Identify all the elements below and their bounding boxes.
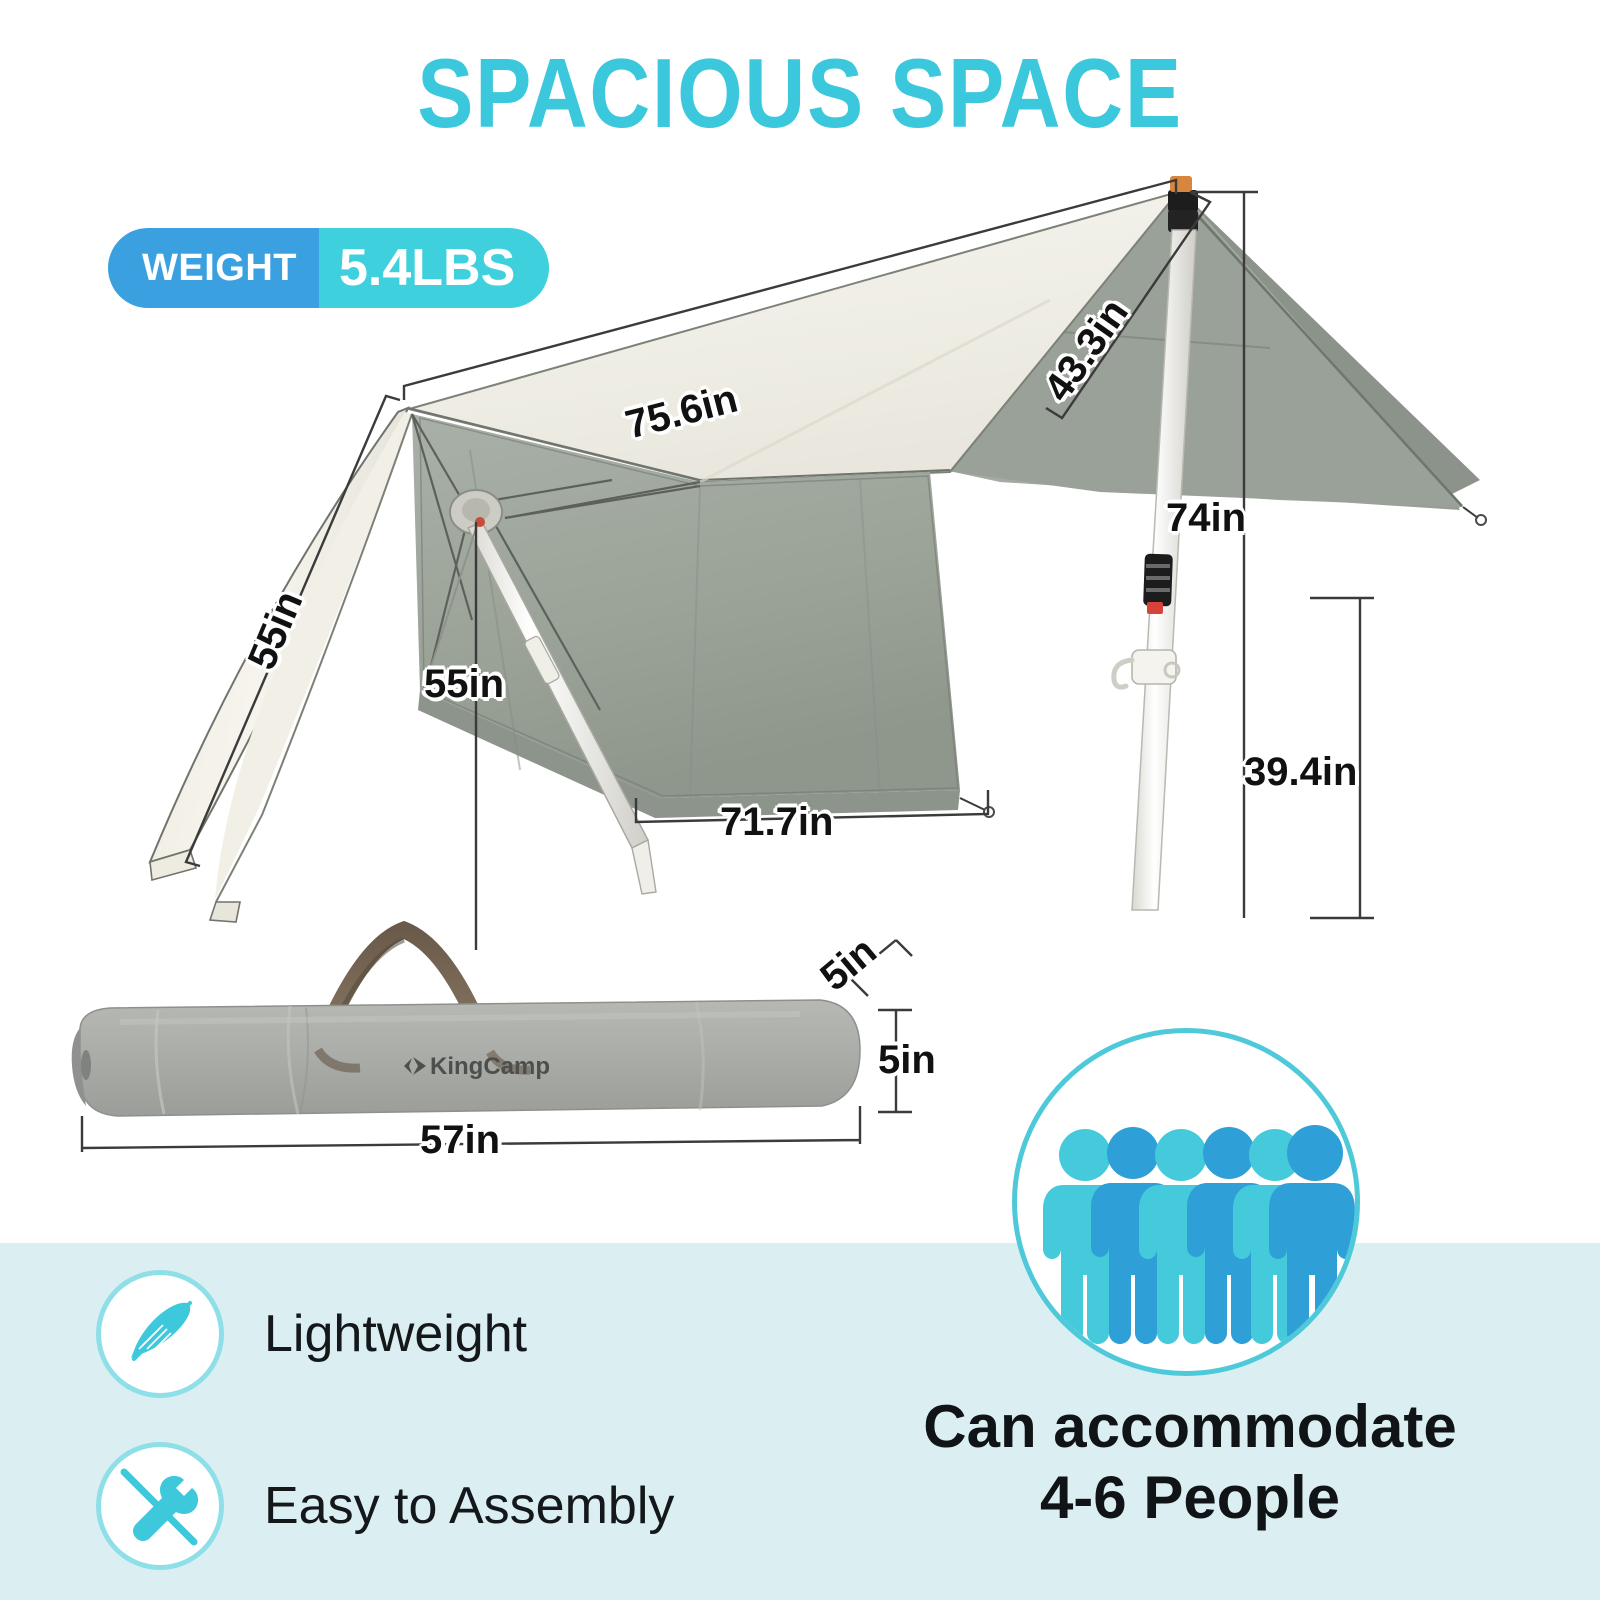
dim-label-interior-height: 55in: [424, 662, 504, 707]
carry-bag-brand-text: KingCamp: [430, 1053, 550, 1080]
dim-label-pole-height: 74in: [1166, 496, 1246, 541]
capacity-icon-circle: [1012, 1028, 1360, 1376]
capacity-text: Can accommodate 4-6 People: [900, 1392, 1480, 1534]
pole-adjust-collar: [1143, 554, 1173, 614]
crossed-tools-icon: [114, 1460, 206, 1552]
feature-icon-wrapper-easy-assembly: [96, 1442, 224, 1570]
capacity-text-line1: Can accommodate: [900, 1392, 1480, 1463]
feature-item-lightweight: Lightweight: [96, 1270, 527, 1398]
dim-label-pole-lower: 39.4in: [1244, 750, 1357, 795]
feature-label-easy-assembly: Easy to Assembly: [264, 1476, 674, 1536]
dim-label-bag-length: 57in: [420, 1118, 500, 1163]
infographic-page: SPACIOUS SPACE WEIGHT 5.4LBS: [0, 0, 1600, 1600]
dim-label-base-width: 71.7in: [720, 800, 833, 845]
feather-icon: [117, 1291, 203, 1377]
capacity-text-line2: 4-6 People: [900, 1463, 1480, 1534]
pole-hook-bracket: [1114, 650, 1179, 687]
dim-label-bag-height: 5in: [878, 1038, 936, 1083]
canopy-right-stake: [1463, 507, 1486, 525]
feature-label-lightweight: Lightweight: [264, 1304, 527, 1364]
people-group-icon: [1017, 1033, 1355, 1371]
feature-icon-wrapper-lightweight: [96, 1270, 224, 1398]
feature-item-easy-assembly: Easy to Assembly: [96, 1442, 674, 1570]
page-title: SPACIOUS SPACE: [112, 42, 1488, 145]
